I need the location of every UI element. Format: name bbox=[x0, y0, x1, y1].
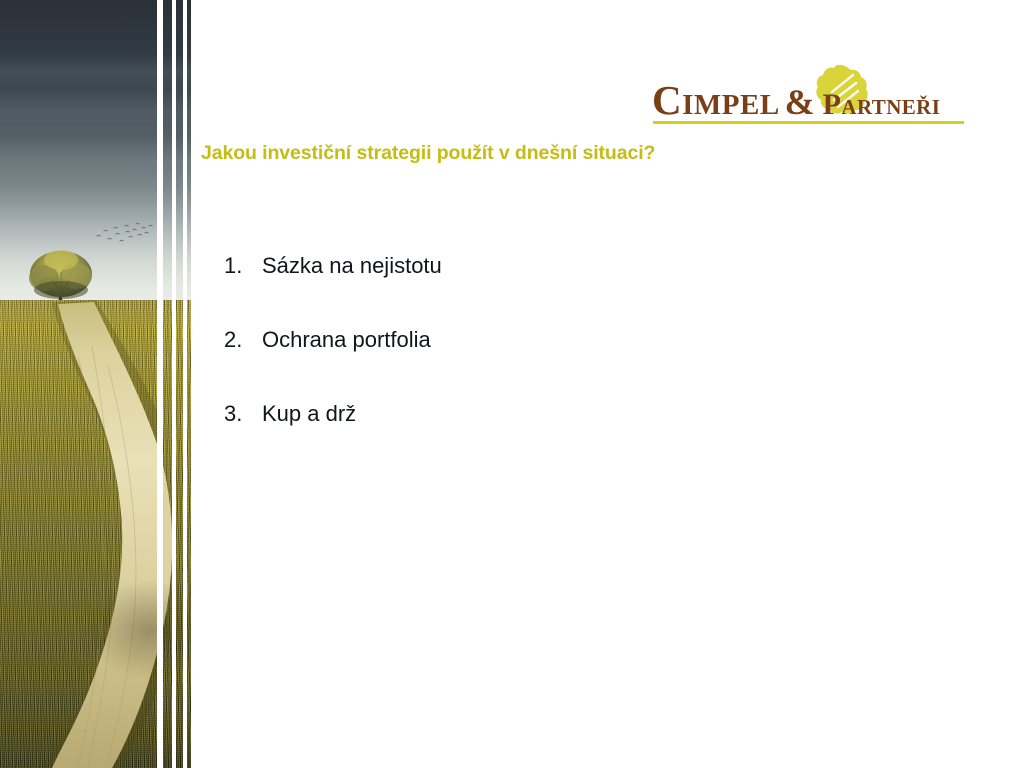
logo-name-primary: Cimpel bbox=[652, 77, 780, 123]
list-item: 1. Sázka na nejistotu bbox=[224, 251, 924, 325]
birds-flock-icon bbox=[95, 222, 155, 252]
list-item-label: Sázka na nejistotu bbox=[262, 251, 924, 281]
company-logo: Cimpel&Partneři bbox=[652, 64, 964, 126]
list-item-number: 1. bbox=[224, 251, 262, 281]
logo-wordmark: Cimpel&Partneři bbox=[652, 78, 964, 122]
photo-stripe-3 bbox=[187, 0, 191, 768]
photo-stripe-1 bbox=[163, 0, 172, 768]
presentation-slide: Cimpel&Partneři Jakou investiční strateg… bbox=[0, 0, 1024, 768]
photo-stripe-2 bbox=[176, 0, 183, 768]
agenda-list: 1. Sázka na nejistotu 2. Ochrana portfol… bbox=[224, 251, 924, 473]
list-item-label: Ochrana portfolia bbox=[262, 325, 924, 355]
logo-name-secondary: Partneři bbox=[823, 88, 941, 121]
list-item-number: 2. bbox=[224, 325, 262, 355]
list-item: 2. Ochrana portfolia bbox=[224, 325, 924, 399]
list-item: 3. Kup a drž bbox=[224, 399, 924, 473]
field-shadows bbox=[0, 300, 157, 768]
list-item-label: Kup a drž bbox=[262, 399, 924, 429]
page-title: Jakou investiční strategii použít v dneš… bbox=[201, 140, 961, 166]
landscape-photo bbox=[0, 0, 157, 768]
list-item-number: 3. bbox=[224, 399, 262, 429]
logo-ampersand: & bbox=[785, 82, 815, 122]
